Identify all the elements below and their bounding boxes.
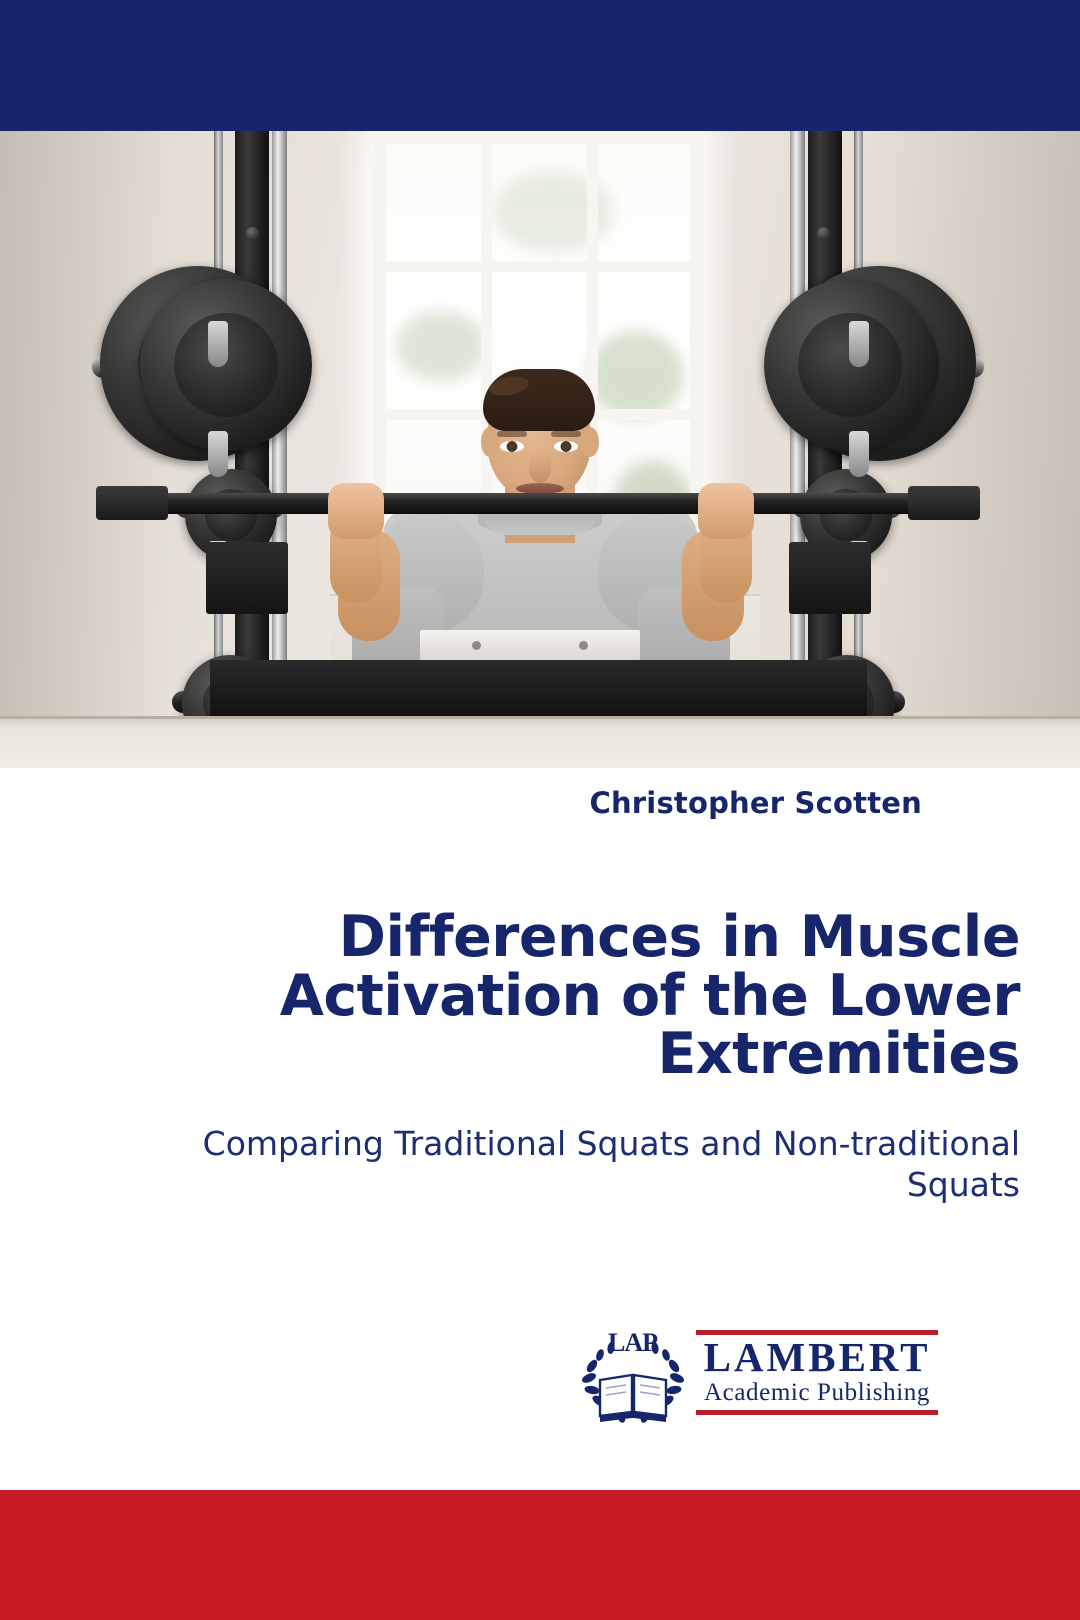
book-cover: Christopher Scotten Differences in Muscl… [0,0,1080,1620]
bench-plate [420,630,640,660]
publisher-name: LAMBERT [696,1335,938,1379]
publisher-tagline: Academic Publishing [696,1379,938,1408]
barbell [150,493,925,514]
hand-right [698,483,754,539]
publisher-wordmark: LAMBERT Academic Publishing [696,1330,938,1415]
subtitle-line-1: Comparing Traditional Squats and Non-tra… [140,1123,1020,1164]
bottom-color-band [0,1490,1080,1620]
rack-pad-right [789,542,871,614]
weight-plate [140,279,312,451]
hair [483,369,595,431]
rack-pad-left [206,542,288,614]
title-line-1: Differences in Muscle [140,908,1020,967]
subtitle-line-2: Squats [140,1164,1020,1205]
book-subtitle: Comparing Traditional Squats and Non-tra… [140,1123,1020,1206]
rack-base-bar [210,660,867,716]
lap-emblem-icon: LAP [578,1328,688,1428]
floor-baseboard [0,716,1080,768]
title-line-2: Activation of the Lower [140,967,1020,1026]
lap-abbreviation: LAP [608,1328,657,1358]
title-line-3: Extremities [140,1025,1020,1084]
hand-left [328,483,384,539]
logo-rule-bottom [696,1410,938,1415]
author-name: Christopher Scotten [589,786,922,820]
weight-plate [764,279,936,451]
cover-photo [0,131,1080,768]
publisher-logo: LAP LAMBERT Academic Publishing [578,1318,938,1428]
book-title: Differences in Muscle Activation of the … [140,908,1020,1084]
top-color-band [0,0,1080,131]
